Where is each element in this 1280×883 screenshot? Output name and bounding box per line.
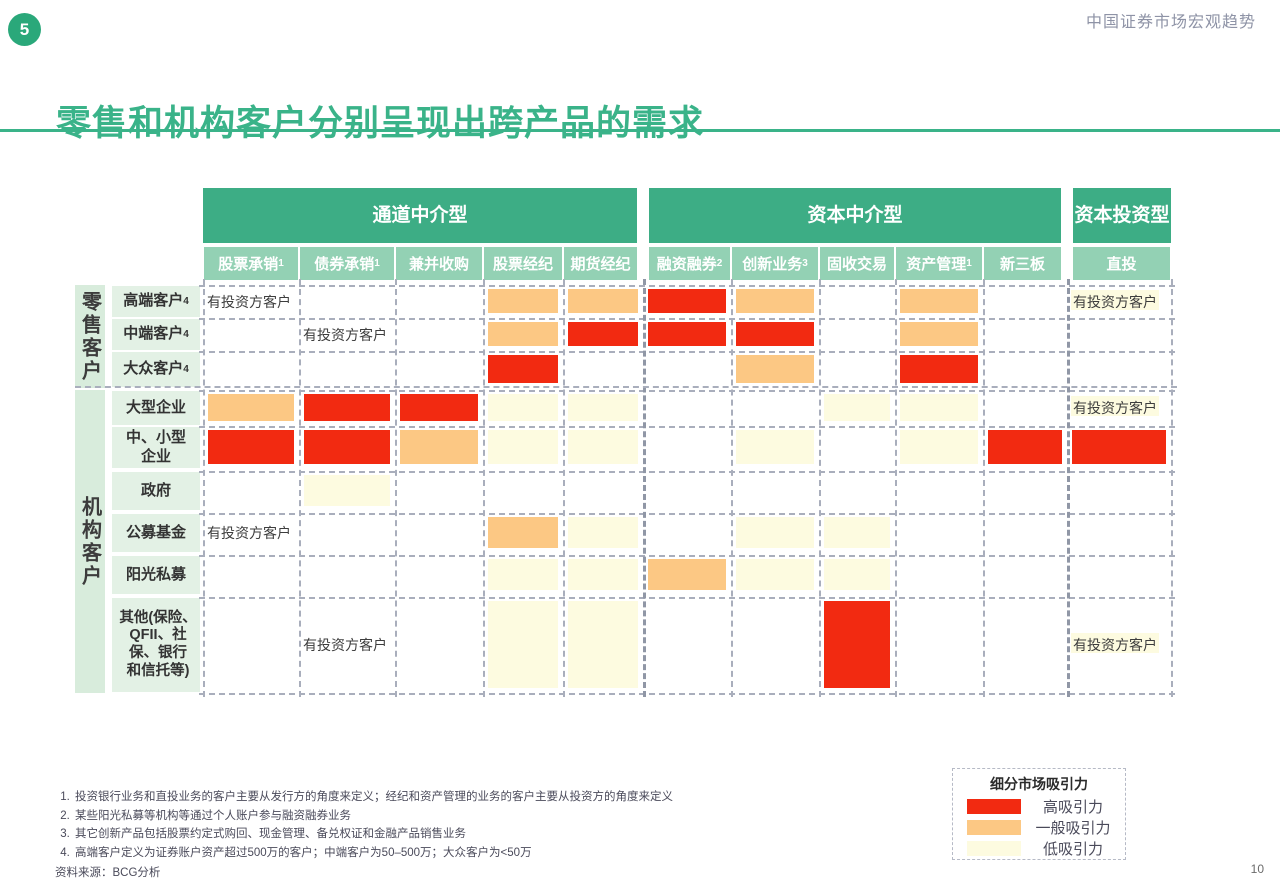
matrix-cell-r9c5 bbox=[568, 601, 638, 688]
matrix-cell-r9c8 bbox=[824, 601, 890, 688]
matrix-cell-r4c1 bbox=[208, 394, 294, 421]
matrix-cell-r5c9 bbox=[900, 430, 978, 464]
investor-note-3: 有投资方客户 bbox=[303, 325, 387, 345]
column-header-11: 直投 bbox=[1073, 247, 1170, 280]
matrix-cell-r7c5 bbox=[568, 517, 638, 548]
matrix-cell-r8c8 bbox=[824, 559, 890, 590]
column-header-2: 债券承销1 bbox=[300, 247, 394, 280]
legend-swatch-low bbox=[967, 841, 1021, 856]
row-label-6: 政府 bbox=[112, 472, 200, 510]
legend-label: 一般吸引力 bbox=[1021, 817, 1125, 838]
grid-hline-4 bbox=[199, 426, 1175, 428]
slide-number-badge: 5 bbox=[8, 13, 41, 46]
matrix-cell-r7c7 bbox=[736, 517, 814, 548]
row-label-8: 阳光私募 bbox=[112, 556, 200, 594]
row-label-1: 高端客户4 bbox=[112, 286, 200, 317]
grid-hline-8 bbox=[199, 597, 1175, 599]
title-divider bbox=[0, 129, 1280, 132]
grid-vline-8 bbox=[895, 279, 897, 697]
matrix-cell-r3c4 bbox=[488, 355, 558, 383]
matrix-cell-r5c1 bbox=[208, 430, 294, 464]
matrix-cell-r8c5 bbox=[568, 559, 638, 590]
column-group-header-2: 资本中介型 bbox=[649, 188, 1061, 243]
matrix-cell-r1c4 bbox=[488, 289, 558, 313]
investor-note-5: 有投资方客户 bbox=[207, 523, 291, 543]
row-label-7: 公募基金 bbox=[112, 514, 200, 552]
legend-item: 低吸引力 bbox=[953, 838, 1125, 858]
matrix-cell-r5c5 bbox=[568, 430, 638, 464]
matrix-cell-r1c9 bbox=[900, 289, 978, 313]
matrix-cell-r4c4 bbox=[488, 394, 558, 421]
matrix-cell-r5c2 bbox=[304, 430, 390, 464]
investor-note-6: 有投资方客户 bbox=[303, 635, 387, 655]
grid-vline-11 bbox=[1171, 279, 1173, 697]
matrix-cell-r8c6 bbox=[648, 559, 726, 590]
grid-vline-7 bbox=[819, 279, 821, 697]
page-title: 零售和机构客户分别呈现出跨产品的需求 bbox=[56, 95, 704, 146]
matrix-cell-r4c9 bbox=[900, 394, 978, 421]
grid-vline-1 bbox=[299, 279, 301, 697]
matrix-cell-r4c2 bbox=[304, 394, 390, 421]
row-label-9: 其他(保险、QFII、社保、银行和信托等) bbox=[112, 598, 200, 692]
matrix-cell-r2c6 bbox=[648, 322, 726, 346]
matrix-cell-r8c4 bbox=[488, 559, 558, 590]
matrix-cell-r5c3 bbox=[400, 430, 478, 464]
matrix-cell-r4c8 bbox=[824, 394, 890, 421]
grid-vline-9 bbox=[983, 279, 985, 697]
matrix-cell-r1c5 bbox=[568, 289, 638, 313]
column-header-1: 股票承销1 bbox=[204, 247, 298, 280]
group-separator bbox=[75, 386, 1177, 388]
matrix-cell-r5c7 bbox=[736, 430, 814, 464]
column-header-4: 股票经纪 bbox=[484, 247, 562, 280]
legend: 细分市场吸引力 高吸引力 一般吸引力 低吸引力 bbox=[952, 768, 1126, 860]
matrix-cell-r4c3 bbox=[400, 394, 478, 421]
matrix-cell-r9c4 bbox=[488, 601, 558, 688]
row-label-2: 中端客户4 bbox=[112, 319, 200, 350]
page-number: 10 bbox=[1251, 862, 1264, 876]
legend-title: 细分市场吸引力 bbox=[953, 774, 1125, 794]
matrix-cell-r7c8 bbox=[824, 517, 890, 548]
column-header-6: 融资融券2 bbox=[649, 247, 730, 280]
matrix-cell-r4c5 bbox=[568, 394, 638, 421]
matrix-cell-r1c6 bbox=[648, 289, 726, 313]
matrix-cell-r8c7 bbox=[736, 559, 814, 590]
grid-hline-0 bbox=[199, 285, 1175, 287]
grid-vline-4 bbox=[563, 279, 565, 697]
row-group-label-1: 零售客户 bbox=[75, 285, 105, 388]
grid-vline-10 bbox=[1067, 279, 1070, 697]
investor-note-2: 有投资方客户 bbox=[1071, 290, 1159, 310]
grid-hline-1 bbox=[199, 318, 1175, 320]
footnotes: 投资银行业务和直投业务的客户主要从发行方的角度来定义；经纪和资产管理的业务的客户… bbox=[55, 788, 673, 882]
investor-note-7: 有投资方客户 bbox=[1071, 633, 1159, 653]
row-group-label-2: 机构客户 bbox=[75, 390, 105, 693]
row-label-4: 大型企业 bbox=[112, 391, 200, 425]
column-header-10: 新三板 bbox=[984, 247, 1061, 280]
column-header-8: 固收交易 bbox=[820, 247, 894, 280]
attractiveness-matrix: 通道中介型资本中介型资本投资型股票承销1债券承销1兼并收购股票经纪期货经纪融资融… bbox=[75, 188, 1180, 735]
grid-hline-3 bbox=[199, 390, 1175, 392]
grid-hline-7 bbox=[199, 555, 1175, 557]
legend-label: 低吸引力 bbox=[1021, 838, 1125, 859]
footnote-item: 高端客户定义为证券账户资产超过500万的客户；中端客户为50–500万；大众客户… bbox=[73, 844, 673, 863]
matrix-cell-r2c7 bbox=[736, 322, 814, 346]
matrix-cell-r2c9 bbox=[900, 322, 978, 346]
investor-note-1: 有投资方客户 bbox=[207, 292, 291, 312]
column-header-5: 期货经纪 bbox=[564, 247, 637, 280]
matrix-cell-r5c11 bbox=[1072, 430, 1166, 464]
row-label-5: 中、小型企业 bbox=[112, 427, 200, 468]
matrix-cell-r7c4 bbox=[488, 517, 558, 548]
legend-swatch-medium bbox=[967, 820, 1021, 835]
matrix-cell-r6c2 bbox=[304, 475, 390, 506]
grid-vline-6 bbox=[731, 279, 733, 697]
legend-item: 一般吸引力 bbox=[953, 817, 1125, 837]
matrix-cell-r5c4 bbox=[488, 430, 558, 464]
legend-swatch-high bbox=[967, 799, 1021, 814]
grid-vline-5 bbox=[643, 279, 646, 697]
legend-item: 高吸引力 bbox=[953, 796, 1125, 816]
row-label-3: 大众客户4 bbox=[112, 352, 200, 387]
investor-note-4: 有投资方客户 bbox=[1071, 396, 1159, 416]
footnote-item: 其它创新产品包括股票约定式购回、现金管理、备兑权证和金融产品销售业务 bbox=[73, 825, 673, 844]
grid-hline-9 bbox=[199, 693, 1175, 695]
column-group-header-3: 资本投资型 bbox=[1073, 188, 1171, 243]
column-group-header-1: 通道中介型 bbox=[203, 188, 637, 243]
grid-vline-0 bbox=[203, 279, 205, 697]
footnote-list: 投资银行业务和直投业务的客户主要从发行方的角度来定义；经纪和资产管理的业务的客户… bbox=[55, 788, 673, 863]
grid-vline-2 bbox=[395, 279, 397, 697]
footnote-item: 某些阳光私募等机构等通过个人账户参与融资融券业务 bbox=[73, 807, 673, 826]
matrix-cell-r3c7 bbox=[736, 355, 814, 383]
grid-hline-2 bbox=[199, 351, 1175, 353]
grid-hline-5 bbox=[199, 471, 1175, 473]
legend-label: 高吸引力 bbox=[1021, 796, 1125, 817]
matrix-cell-r3c9 bbox=[900, 355, 978, 383]
column-header-9: 资产管理1 bbox=[896, 247, 982, 280]
footnote-item: 投资银行业务和直投业务的客户主要从发行方的角度来定义；经纪和资产管理的业务的客户… bbox=[73, 788, 673, 807]
source-note: 资料来源：BCG分析 bbox=[55, 864, 673, 883]
section-kicker: 中国证券市场宏观趋势 bbox=[1086, 8, 1256, 32]
grid-hline-6 bbox=[199, 513, 1175, 515]
matrix-cell-r1c7 bbox=[736, 289, 814, 313]
matrix-cell-r2c4 bbox=[488, 322, 558, 346]
column-header-7: 创新业务3 bbox=[732, 247, 818, 280]
grid-vline-3 bbox=[483, 279, 485, 697]
column-header-3: 兼并收购 bbox=[396, 247, 482, 280]
matrix-cell-r5c10 bbox=[988, 430, 1062, 464]
matrix-cell-r2c5 bbox=[568, 322, 638, 346]
